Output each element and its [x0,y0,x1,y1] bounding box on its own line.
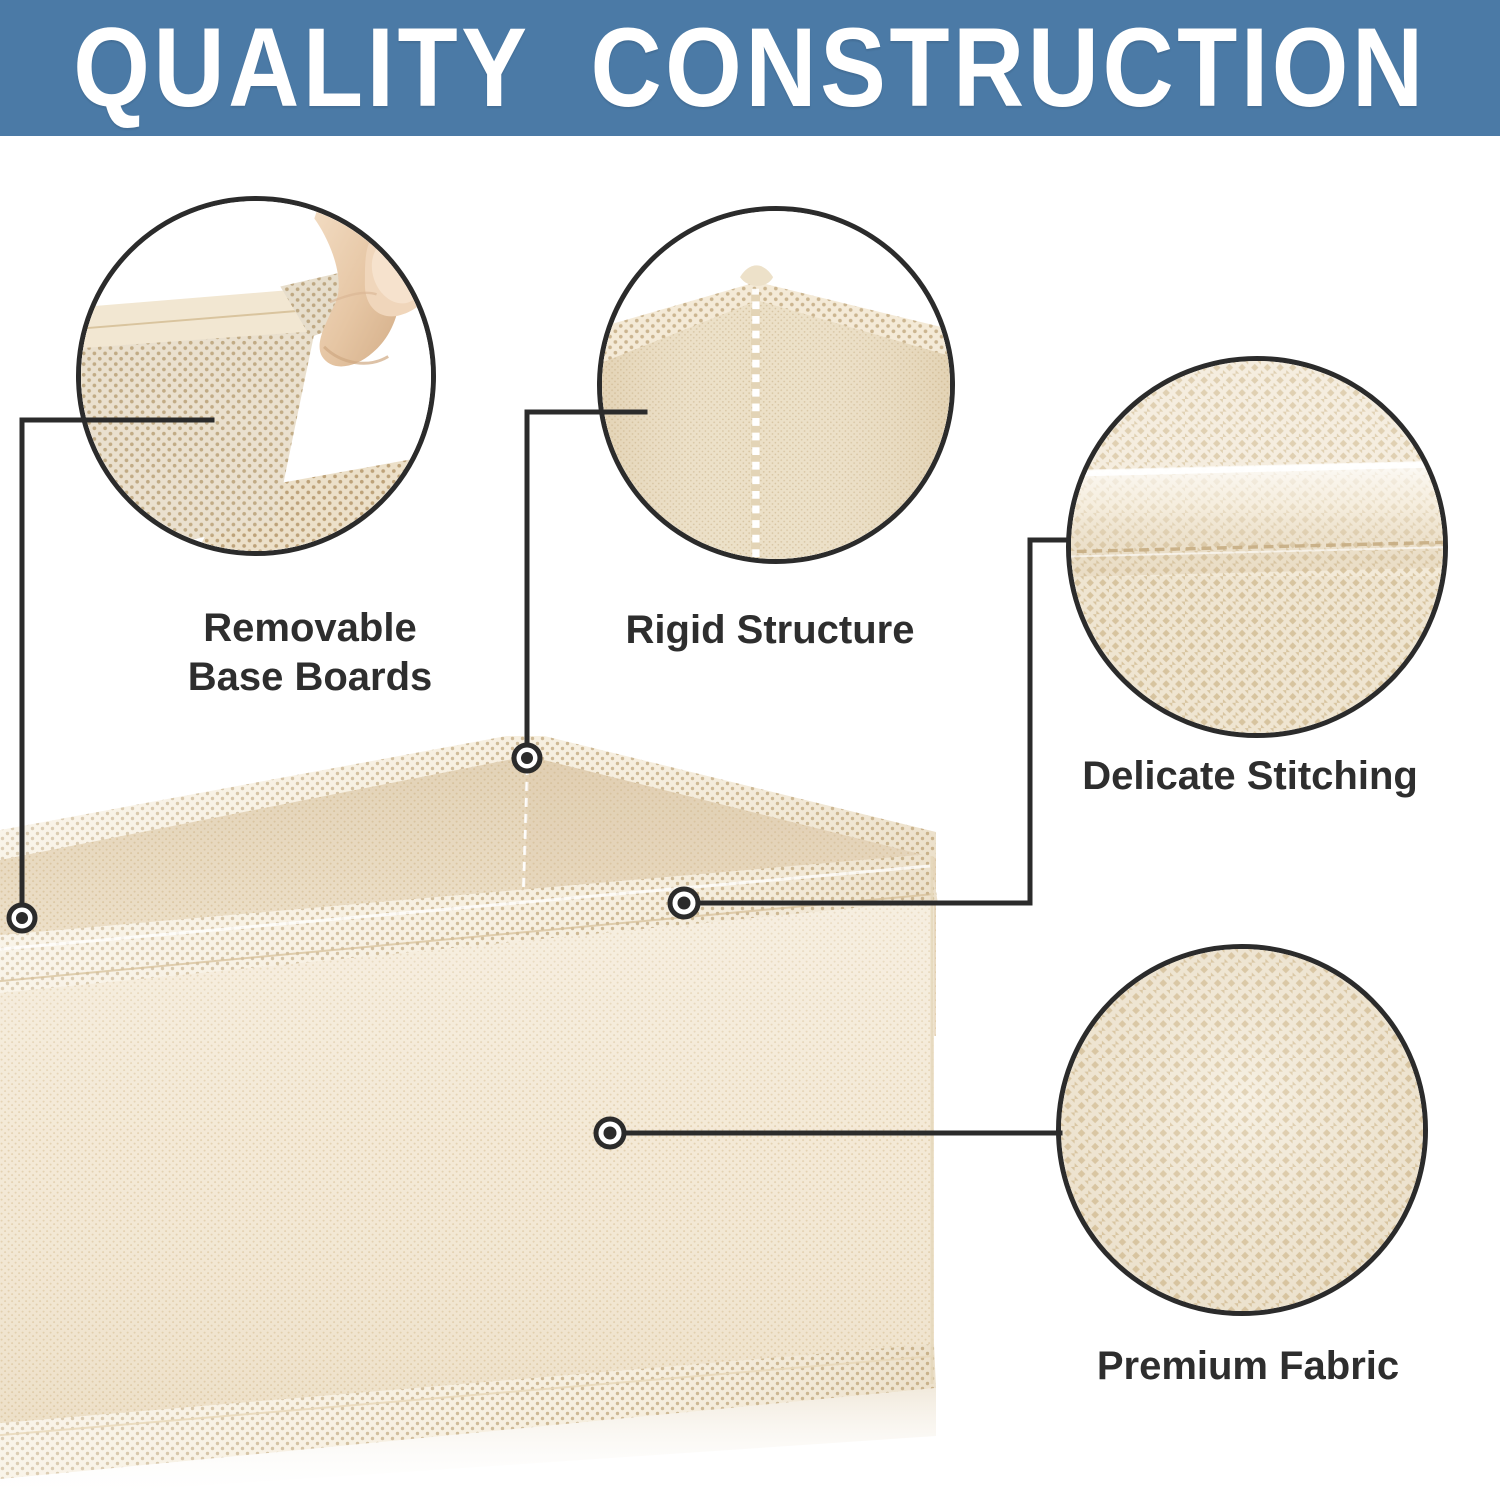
leader-markers [9,745,698,1147]
marker-delicate-stitching [670,889,698,917]
callout-leader-lines [0,0,1500,1500]
callout-label-rigid-structure: Rigid Structure [570,606,970,655]
leader-line-rigid-structure [527,412,645,748]
callout-label-removable-base-boards: Removable Base Boards [120,604,500,702]
marker-premium-fabric [596,1119,624,1147]
marker-removable-base-boards [9,905,35,931]
leader-line-delicate-stitching [694,540,1068,903]
callout-label-delicate-stitching: Delicate Stitching [1040,752,1460,801]
marker-rigid-structure [514,745,540,771]
callout-label-premium-fabric: Premium Fabric [1048,1342,1448,1391]
